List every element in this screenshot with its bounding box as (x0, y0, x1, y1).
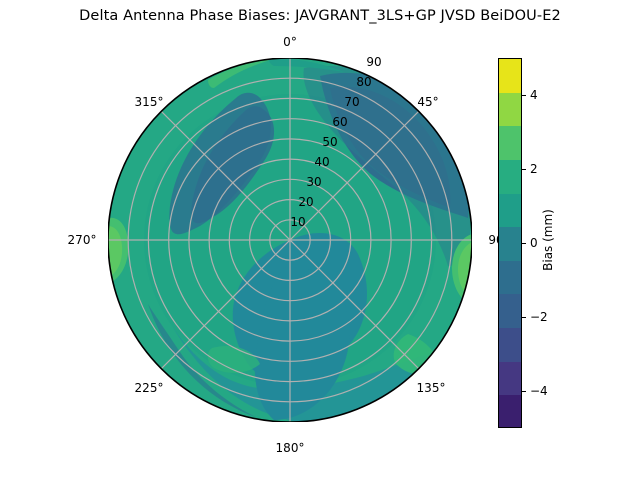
colorbar-band-0 (499, 59, 521, 93)
figure-canvas: Delta Antenna Phase Biases: JAVGRANT_3LS… (0, 0, 640, 480)
colorbar-band-3 (499, 160, 521, 194)
angular-tick-225: 225° (135, 381, 164, 395)
colorbar-band-5 (499, 227, 521, 261)
colorbar-tickmark-0 (522, 95, 526, 96)
polar-plot-svg (108, 58, 472, 422)
angular-tick-45: 45° (417, 95, 438, 109)
colorbar-ticklabel-1: 2 (530, 162, 538, 176)
colorbar-tickmark-1 (522, 169, 526, 170)
colorbar-ticklabel-2: 0 (530, 236, 538, 250)
colorbar-band-10 (499, 395, 521, 428)
colorbar-band-4 (499, 194, 521, 228)
colorbar-tickmark-3 (522, 317, 526, 318)
radial-tick-40: 40 (314, 155, 329, 169)
colorbar-band-8 (499, 328, 521, 362)
radial-tick-90: 90 (366, 55, 381, 69)
angular-tick-270: 270° (68, 233, 97, 247)
radial-tick-50: 50 (322, 135, 337, 149)
colorbar-tickmark-4 (522, 391, 526, 392)
colorbar-axis-label: Bias (mm) (541, 209, 555, 271)
colorbar-band-9 (499, 362, 521, 396)
polar-axes: 0° 45° 90 135° 180° 225° 270° 315° 10 20… (108, 58, 472, 422)
angular-gridlines (108, 58, 472, 422)
colorbar: 420−2−4 (498, 58, 522, 428)
radial-tick-80: 80 (356, 75, 371, 89)
angular-tick-180: 180° (276, 441, 305, 455)
radial-tick-20: 20 (298, 195, 313, 209)
radial-tick-30: 30 (306, 175, 321, 189)
colorbar-ticklabel-4: −4 (530, 384, 548, 398)
angular-tick-0: 0° (283, 35, 297, 49)
colorbar-band-7 (499, 294, 521, 328)
colorbar-band-2 (499, 126, 521, 160)
colorbar-ticklabel-0: 4 (530, 88, 538, 102)
angular-tick-315: 315° (135, 95, 164, 109)
radial-tick-10: 10 (290, 215, 305, 229)
colorbar-gradient (498, 58, 522, 428)
radial-tick-60: 60 (332, 115, 347, 129)
radial-tick-70: 70 (344, 95, 359, 109)
angular-tick-135: 135° (417, 381, 446, 395)
colorbar-ticklabel-3: −2 (530, 310, 548, 324)
colorbar-band-1 (499, 93, 521, 127)
colorbar-band-6 (499, 261, 521, 295)
colorbar-tickmark-2 (522, 243, 526, 244)
page-title: Delta Antenna Phase Biases: JAVGRANT_3LS… (0, 8, 640, 24)
